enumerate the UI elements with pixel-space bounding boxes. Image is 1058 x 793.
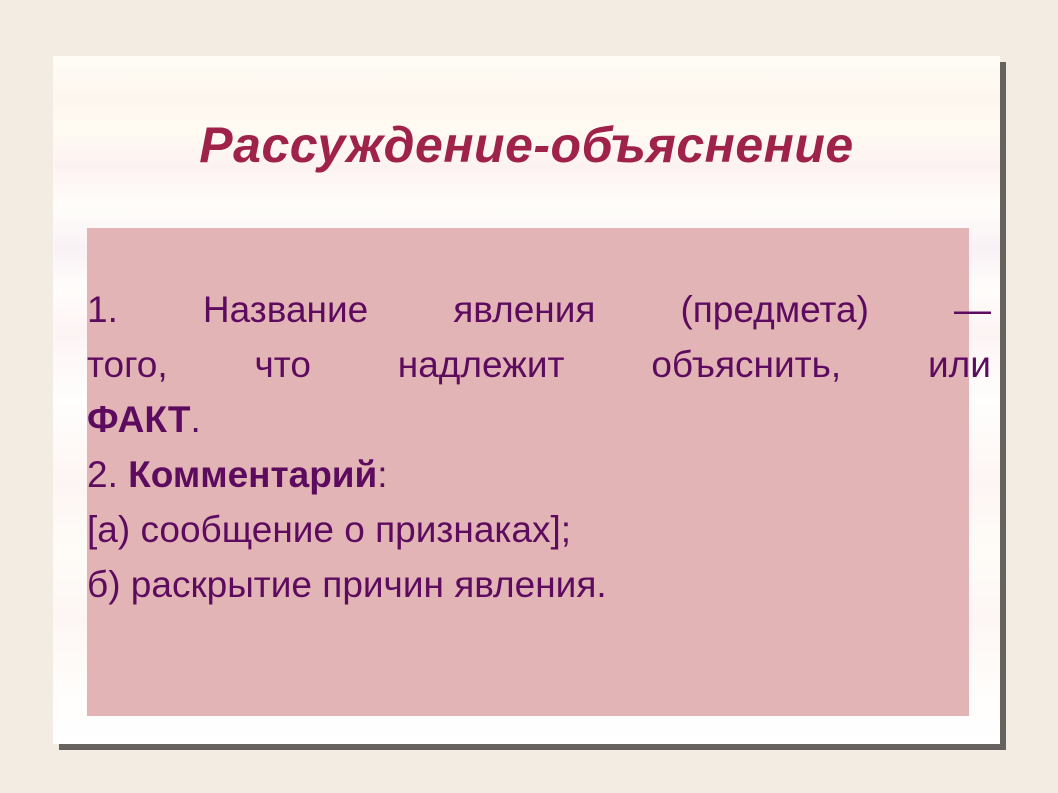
body-line-4-num: 2.: [87, 454, 128, 495]
body-line-2-word-2: что: [255, 337, 311, 392]
body-line-5: [а) сообщение о признаках];: [87, 502, 991, 557]
body-line-4-label: Комментарий: [128, 454, 377, 495]
body-text-content: 1. Название явления (предмета) — того, ч…: [87, 282, 991, 612]
body-line-1-word-3: явления: [453, 282, 595, 337]
body-line-1: 1. Название явления (предмета) —: [87, 282, 991, 337]
body-line-2: того, что надлежит объяснить, или: [87, 337, 991, 392]
slide-title: Рассуждение-объяснение: [53, 116, 1000, 174]
body-line-4: 2. Комментарий:: [87, 447, 991, 502]
body-line-1-num: 1.: [87, 282, 118, 337]
body-line-1-word-2: Название: [203, 282, 368, 337]
body-line-1-word-4: (предмета): [680, 282, 869, 337]
body-line-3-period: .: [190, 399, 200, 440]
body-line-3-fact: ФАКТ: [87, 399, 190, 440]
body-line-6: б) раскрытие причин явления.: [87, 557, 991, 612]
slide: Рассуждение-объяснение 1. Название явлен…: [0, 0, 1058, 793]
body-line-2-word-4: объяснить,: [651, 337, 841, 392]
body-line-1-dash: —: [954, 282, 991, 337]
body-line-2-word-1: того,: [87, 337, 168, 392]
body-line-3: ФАКТ.: [87, 392, 991, 447]
slide-content-panel: Рассуждение-объяснение 1. Название явлен…: [53, 56, 1000, 744]
body-line-4-colon: :: [377, 454, 387, 495]
body-line-2-word-5: или: [928, 337, 991, 392]
body-line-2-word-3: надлежит: [398, 337, 565, 392]
